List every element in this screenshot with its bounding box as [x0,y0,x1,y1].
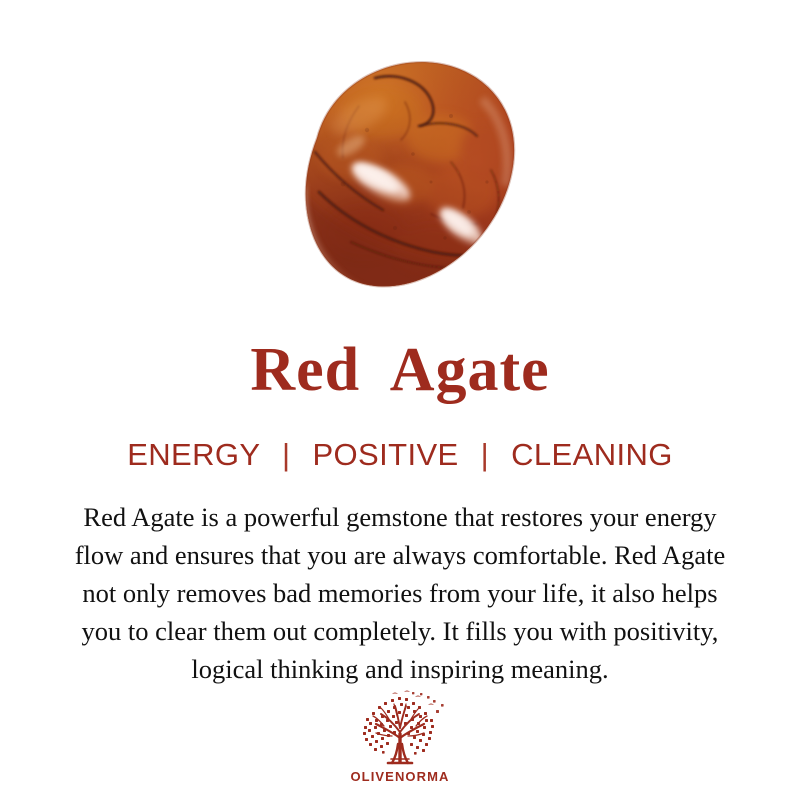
description-line: Red Agate is a powerful gemstone that re… [24,498,776,536]
product-description: Red Agate is a powerful gemstone that re… [24,498,776,688]
description-line: flow and ensures that you are always com… [24,536,776,574]
keyword-positive: POSITIVE [312,437,458,472]
tree-of-life-icon [348,688,452,768]
product-info-card: Red Agate ENERGY | POSITIVE | CLEANING R… [0,0,800,800]
description-line: logical thinking and inspiring meaning. [24,650,776,688]
page-title: Red Agate [0,334,800,406]
keyword-separator: | [282,437,290,473]
keyword-cleaning: CLEANING [511,437,673,472]
description-line: you to clear them out completely. It fil… [24,612,776,650]
keyword-list: ENERGY | POSITIVE | CLEANING [0,437,800,473]
brand-name: OLIVENORMA [0,769,800,784]
brand-logo: OLIVENORMA [0,688,800,784]
keyword-separator: | [481,437,489,473]
gemstone-image [0,42,800,304]
red-agate-stone-illustration [255,42,545,304]
keyword-energy: ENERGY [127,437,260,472]
description-line: not only removes bad memories from your … [24,574,776,612]
